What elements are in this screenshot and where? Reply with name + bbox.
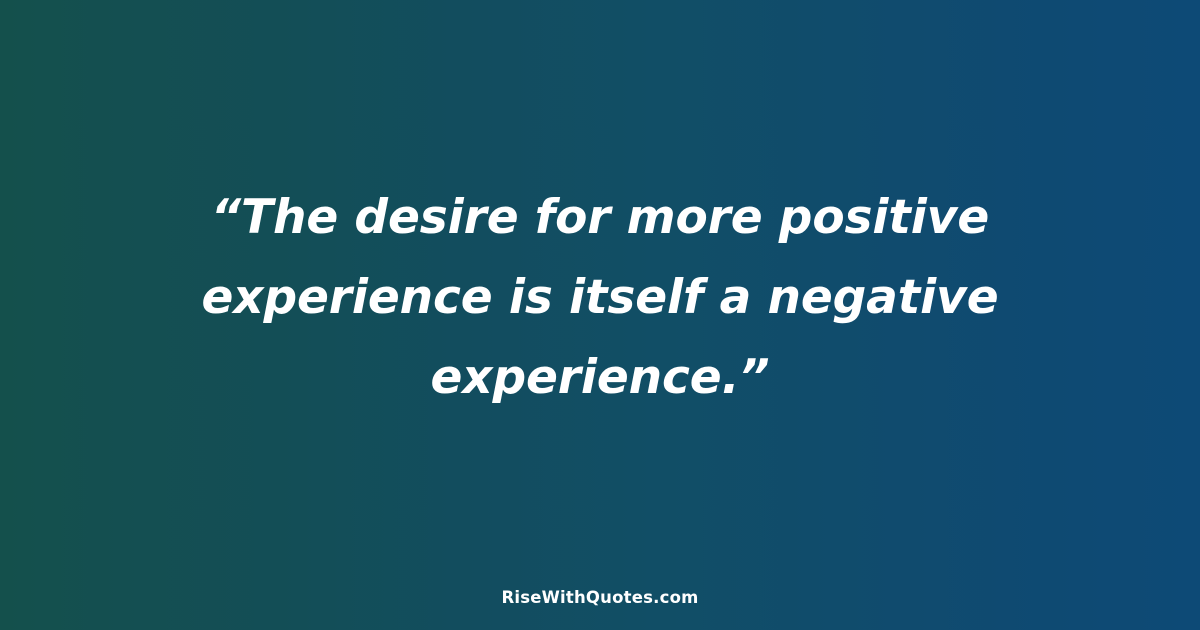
quote-block: “The desire for more positive experience… xyxy=(0,178,1200,418)
attribution-website-label: RiseWithQuotes.com xyxy=(501,588,698,608)
quote-text: “The desire for more positive experience… xyxy=(75,178,1125,418)
attribution-bar: RiseWithQuotes.com xyxy=(0,588,1200,608)
quote-card: “The desire for more positive experience… xyxy=(0,0,1200,630)
